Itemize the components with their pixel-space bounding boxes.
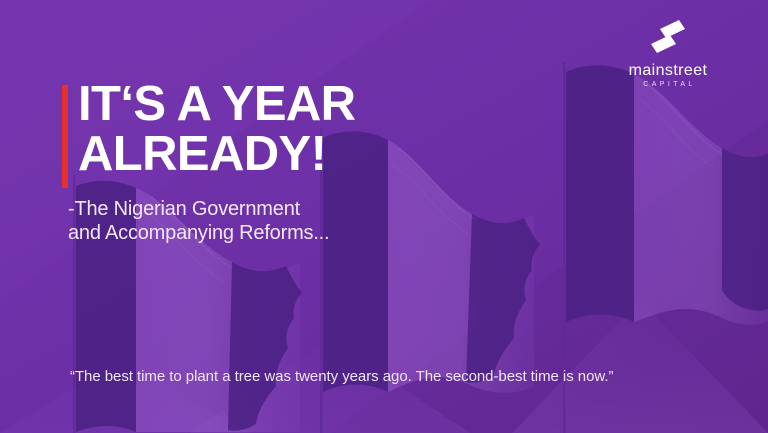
quote-text: “The best time to plant a tree was twent…: [70, 368, 613, 385]
brand-logo: mainstreet CAPITAL: [608, 18, 728, 91]
logo-wordmark: mainstreet: [608, 62, 728, 79]
slide-canvas: IT‘S A YEAR ALREADY! -The Nigerian Gover…: [0, 0, 768, 433]
page-title: IT‘S A YEAR ALREADY!: [78, 79, 498, 179]
stacked-parallelograms-logo-mark: [646, 18, 690, 56]
red-accent-bar: [62, 85, 68, 188]
logo-subtext: CAPITAL: [608, 79, 728, 91]
page-subtitle: -The Nigerian Government and Accompanyin…: [68, 197, 488, 245]
